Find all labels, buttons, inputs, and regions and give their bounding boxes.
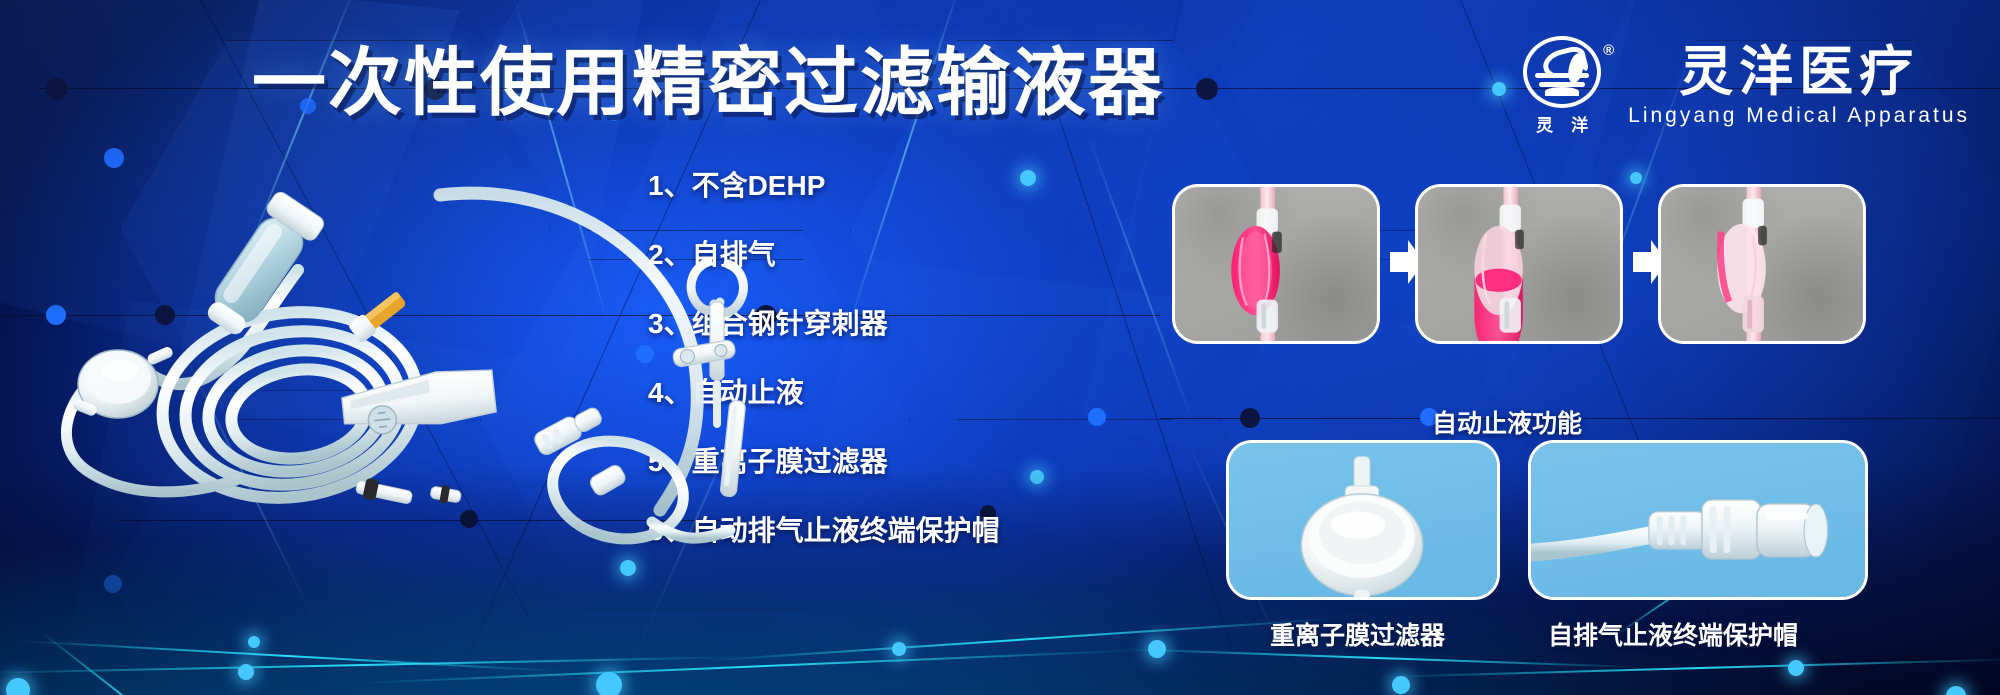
detail-caption-end-cap: 自排气止液终端保护帽	[1548, 616, 1798, 652]
emblem-circle-icon	[1523, 36, 1601, 108]
company-name-cn: 灵洋医疗	[1679, 44, 1919, 101]
page-title: 一次性使用精密过滤输液器	[252, 46, 1164, 120]
hero-product-image	[40, 150, 780, 570]
registered-trademark-icon: ®	[1603, 42, 1614, 59]
product-banner: 一次性使用精密过滤输液器 ® 灵洋 灵洋医疗 Lingyang Medical …	[0, 0, 2000, 695]
company-name-en: Lingyang Medical Apparatus	[1628, 104, 1970, 128]
brand-wordmark: 灵洋医疗 Lingyang Medical Apparatus	[1628, 44, 1970, 129]
flow-photo-3	[1658, 184, 1866, 344]
lingyang-emblem-icon: ® 灵洋	[1514, 36, 1610, 136]
detail-photo-heavy-ion-membrane-filter	[1226, 440, 1500, 600]
brand-logo: ® 灵洋 灵洋医疗 Lingyang Medical Apparatus	[1514, 36, 1970, 136]
flow-photo-2	[1415, 184, 1623, 344]
flow-photo-1	[1172, 184, 1380, 344]
flow-section-caption: 自动止液功能	[1432, 404, 1582, 440]
detail-photo-auto-vent-end-cap	[1528, 440, 1868, 600]
emblem-caption: 灵洋	[1518, 111, 1606, 136]
detail-caption-filter: 重离子膜过滤器	[1270, 616, 1445, 652]
